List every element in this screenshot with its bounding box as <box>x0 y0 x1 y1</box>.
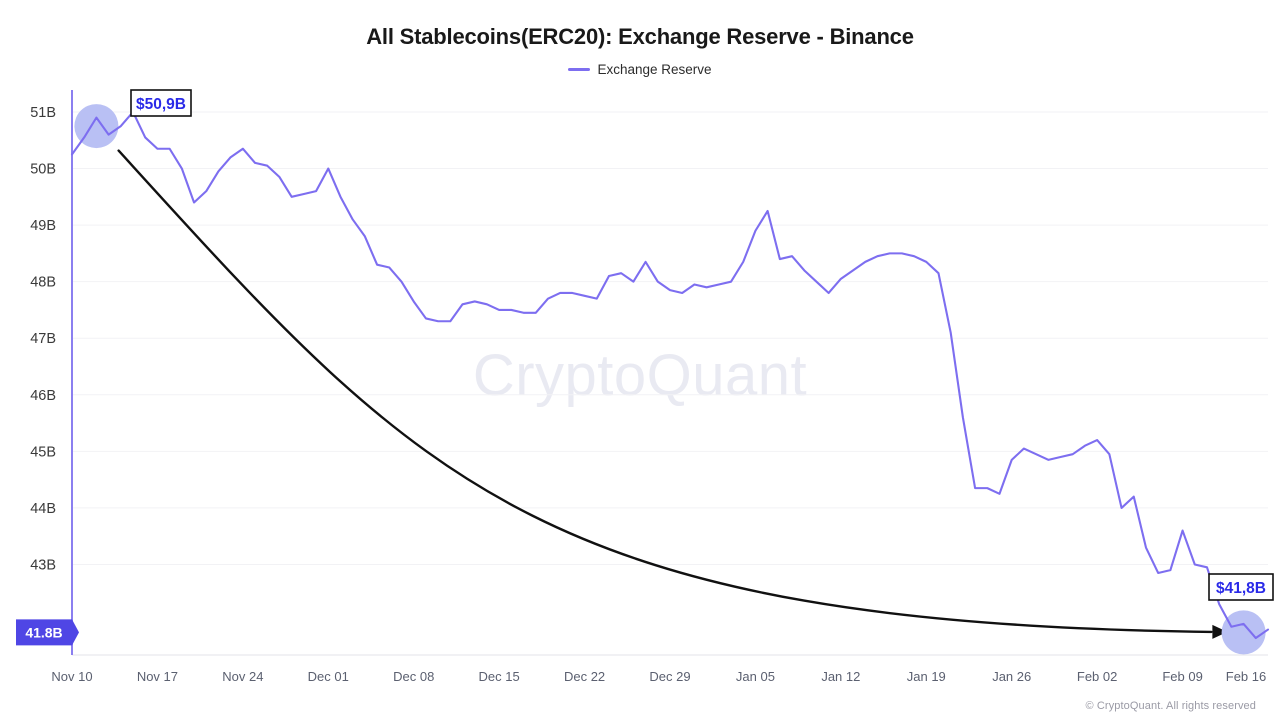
y-axis-tick-label: 51B <box>30 105 56 121</box>
x-axis-tick-label: Jan 12 <box>821 669 860 684</box>
x-axis-tick-label: Dec 22 <box>564 669 605 684</box>
exchange-reserve-line <box>72 112 1268 638</box>
y-axis-tick-label: 43B <box>30 557 56 573</box>
end-badge-label: $41,8B <box>1216 580 1266 597</box>
x-axis-tick-label: Nov 24 <box>222 669 263 684</box>
copyright-notice: © CryptoQuant. All rights reserved <box>1086 700 1256 712</box>
start-badge-label: $50,9B <box>136 96 186 113</box>
x-axis-tick-label: Dec 08 <box>393 669 434 684</box>
x-axis-tick-label: Jan 05 <box>736 669 775 684</box>
y-axis-tick-label: 50B <box>30 162 56 178</box>
x-axis-tick-label: Nov 17 <box>137 669 178 684</box>
y-axis-ticks: 43B44B45B46B47B48B49B50B51B <box>30 105 56 574</box>
x-axis-tick-label: Dec 01 <box>308 669 349 684</box>
x-axis-tick-label: Dec 29 <box>649 669 690 684</box>
y-axis-tick-label: 48B <box>30 275 56 291</box>
x-axis-tick-label: Feb 16 <box>1226 669 1266 684</box>
trend-arrow <box>119 151 1212 632</box>
y-axis-tick-label: 46B <box>30 388 56 404</box>
chart-plot: 43B44B45B46B47B48B49B50B51B Nov 10Nov 17… <box>0 0 1280 720</box>
axis-badge-label: 41.8B <box>25 624 62 640</box>
x-axis-tick-label: Jan 26 <box>992 669 1031 684</box>
start-value-badge: $50,9B <box>131 90 191 116</box>
end-highlight-marker <box>1222 610 1266 654</box>
y-axis-tick-label: 49B <box>30 218 56 234</box>
axis-current-value-badge: 41.8B <box>16 619 79 645</box>
end-value-badge: $41,8B <box>1209 574 1273 600</box>
x-axis-tick-label: Feb 09 <box>1162 669 1202 684</box>
y-axis-tick-label: 47B <box>30 331 56 347</box>
x-axis-tick-label: Dec 15 <box>479 669 520 684</box>
x-axis-tick-label: Feb 02 <box>1077 669 1117 684</box>
y-axis-tick-label: 44B <box>30 501 56 517</box>
x-axis-tick-label: Nov 10 <box>51 669 92 684</box>
gridlines <box>72 112 1268 565</box>
x-axis-tick-label: Jan 19 <box>907 669 946 684</box>
y-axis-tick-label: 45B <box>30 444 56 460</box>
chart-container: All Stablecoins(ERC20): Exchange Reserve… <box>0 0 1280 720</box>
x-axis-ticks: Nov 10Nov 17Nov 24Dec 01Dec 08Dec 15Dec … <box>51 669 1266 684</box>
